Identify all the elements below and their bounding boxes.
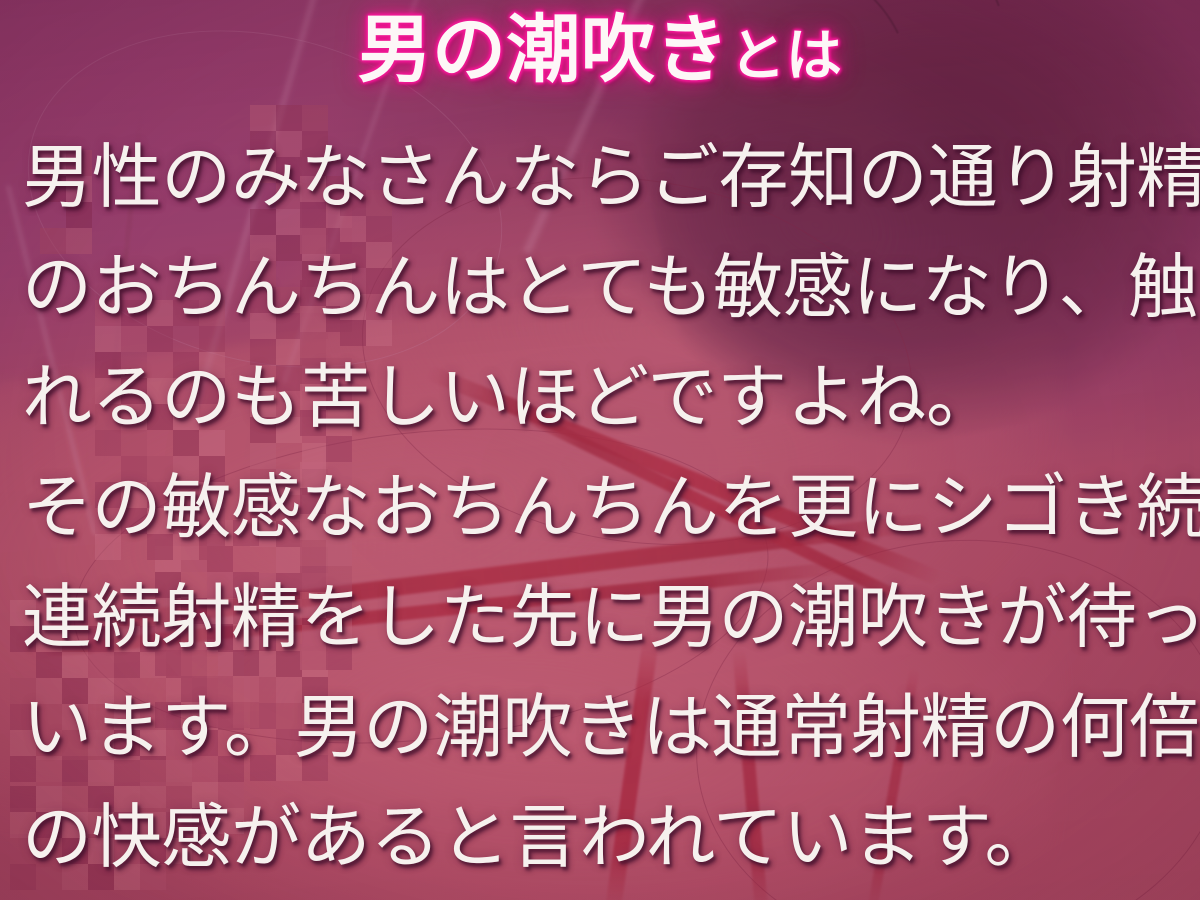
body-line: のおちんちんはとても敏感になり、触ら xyxy=(22,234,1182,344)
body-line: 男性のみなさんならご存知の通り射精後 xyxy=(22,124,1182,234)
body-line: その敏感なおちんちんを更にシゴき続け xyxy=(22,454,1182,564)
body-line: います。男の潮吹きは通常射精の何倍も xyxy=(22,674,1182,784)
body-line: れるのも苦しいほどですよね。 xyxy=(22,344,1182,454)
title-main: 男の潮吹き xyxy=(358,10,730,92)
text-stack: 男の潮吹きとは 男性のみなさんならご存知の通り射精後 のおちんちんはとても敏感に… xyxy=(0,0,1200,900)
body-line: 連続射精をした先に男の潮吹きが待って xyxy=(22,564,1182,674)
body-paragraph: 男性のみなさんならご存知の通り射精後 のおちんちんはとても敏感になり、触ら れる… xyxy=(22,124,1182,894)
body-line: の快感があると言われています。 xyxy=(22,784,1182,894)
page-title: 男の潮吹きとは xyxy=(0,14,1200,88)
banner-canvas: 男の潮吹きとは 男性のみなさんならご存知の通り射精後 のおちんちんはとても敏感に… xyxy=(0,0,1200,900)
title-suffix: とは xyxy=(730,26,843,88)
